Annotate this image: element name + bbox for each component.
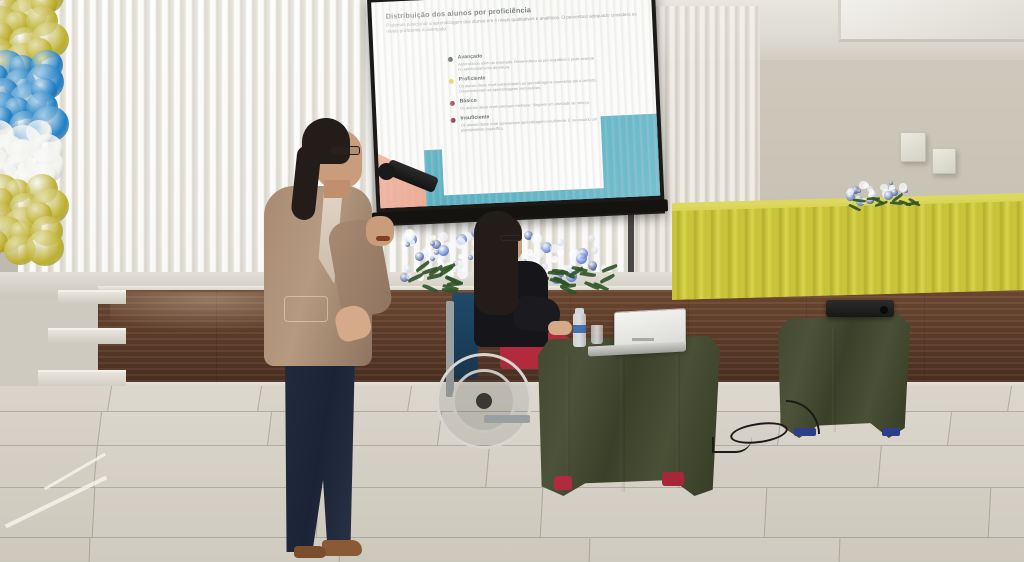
stage-flower-small xyxy=(842,180,910,206)
floor-tile xyxy=(878,446,1024,488)
table-leg-red-2 xyxy=(662,472,684,486)
floor-tile xyxy=(0,538,90,562)
power-strip-1 xyxy=(794,428,816,436)
balloon-arch xyxy=(0,0,82,256)
flower xyxy=(889,181,893,185)
slide-bullet-4: InsuficienteOs alunos deste nível aprese… xyxy=(450,109,601,133)
floor-tile xyxy=(98,412,272,446)
table-leg-red xyxy=(554,476,572,490)
floor-tile xyxy=(0,412,102,446)
speaker-bracelet xyxy=(376,236,390,241)
balloon xyxy=(26,230,64,266)
participant-hands xyxy=(548,321,572,335)
drape-fold-2 xyxy=(620,352,625,492)
floor-tile xyxy=(1008,386,1024,412)
speaker-legs xyxy=(282,352,358,552)
foliage xyxy=(890,201,903,205)
projector-drape-fold xyxy=(832,328,836,432)
floor-tile xyxy=(108,386,262,412)
projector-lens xyxy=(880,306,888,314)
speaker-glasses xyxy=(330,146,360,155)
wall-speaker-right xyxy=(932,148,956,174)
participant-glasses xyxy=(500,235,522,241)
bottle-cap xyxy=(575,308,584,314)
presentation-photo: Distribuição dos alunos por proficiência… xyxy=(0,0,1024,562)
laptop-brand-mark xyxy=(632,338,654,341)
drape-fold-1 xyxy=(566,356,570,486)
laptop-table xyxy=(534,336,726,508)
bullet-dot-icon xyxy=(450,117,455,122)
foliage xyxy=(867,197,880,200)
microphone-head xyxy=(378,163,395,180)
floor-tile xyxy=(765,488,992,538)
floor-tile xyxy=(948,412,1024,446)
floor-tile xyxy=(989,488,1024,538)
slide-bullet-2: ProficienteOs alunos deste nível evidenc… xyxy=(449,70,600,94)
speaker-shoe-2 xyxy=(294,546,326,558)
floor-tile xyxy=(840,538,1024,562)
speaker-blazer-pocket xyxy=(284,296,328,322)
speaker-neck xyxy=(324,180,350,198)
power-strip-2 xyxy=(882,428,900,436)
wall-speaker-left xyxy=(900,132,926,162)
speaker-hand-mic xyxy=(366,216,394,246)
floor-tile xyxy=(0,488,95,538)
floor-tile xyxy=(0,386,112,412)
bullet-dot-icon xyxy=(448,56,453,61)
flower xyxy=(869,189,875,195)
slide-bullet-3: BásicoOs alunos deste nível precisam mel… xyxy=(450,92,600,111)
speaker-shoe xyxy=(322,540,362,556)
skirted-table-yellow xyxy=(672,198,1024,300)
bottle-label xyxy=(573,325,586,333)
slide-bullet-list: AvançadoAprendizado além do esperado. De… xyxy=(448,48,602,138)
wheelchair-footrest xyxy=(484,415,530,423)
drape-fold-3 xyxy=(676,354,680,488)
flower xyxy=(859,181,868,190)
wheelchair-wheel-inner xyxy=(452,369,516,433)
floor-tile xyxy=(590,538,841,562)
bullet-dot-icon xyxy=(449,78,454,83)
ceiling-panel xyxy=(838,0,1024,42)
bullet-dot-icon xyxy=(450,100,455,105)
flower xyxy=(857,189,861,193)
drinking-glass[interactable] xyxy=(591,325,603,344)
